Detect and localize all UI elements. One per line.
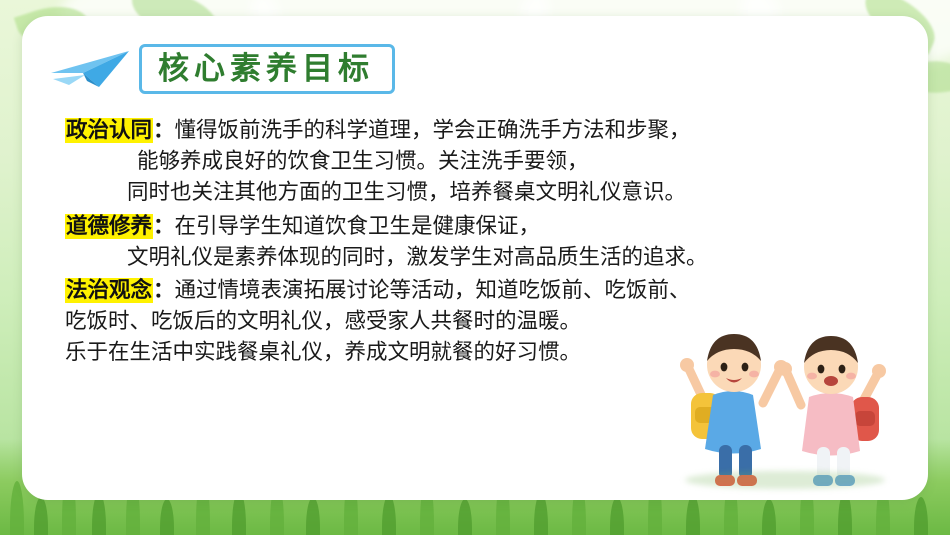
title-row: 核心素养目标 — [49, 43, 395, 95]
label-rule-of-law: 法治观念 — [65, 278, 153, 303]
law-line-1: 通过情境表演拓展讨论等活动，知道吃饭前、吃饭前、 — [175, 278, 691, 303]
colon-law: ： — [153, 278, 175, 303]
political-line-2: 能够养成良好的饮食卫生习惯。关注洗手要领， — [65, 146, 895, 177]
objective-paragraph-moral: 道德修养：在引导学生知道饮食卫生是健康保证， 文明礼仪是素养体现的同时，激发学生… — [65, 211, 895, 273]
content-card: 核心素养目标 政治认同：懂得饭前洗手的科学道理，学会正确洗手方法和步聚， 能够养… — [22, 16, 928, 500]
kids-svg — [671, 307, 901, 497]
title-box: 核心素养目标 — [139, 44, 395, 94]
political-line-1: 懂得饭前洗手的科学道理，学会正确洗手方法和步聚， — [175, 118, 691, 143]
label-moral-cultivation: 道德修养 — [65, 214, 153, 239]
label-political-identity: 政治认同 — [65, 118, 153, 143]
colon-moral: ： — [153, 214, 175, 239]
slide-root: 核心素养目标 政治认同：懂得饭前洗手的科学道理，学会正确洗手方法和步聚， 能够养… — [0, 0, 950, 535]
page-title: 核心素养目标 — [158, 54, 374, 85]
two-children-illustration — [671, 307, 901, 497]
colon-political: ： — [153, 118, 175, 143]
objective-paragraph-political: 政治认同：懂得饭前洗手的科学道理，学会正确洗手方法和步聚， 能够养成良好的饮食卫… — [65, 115, 895, 209]
political-line-3: 同时也关注其他方面的卫生习惯，培养餐桌文明礼仪意识。 — [65, 177, 895, 208]
moral-line-1: 在引导学生知道饮食卫生是健康保证， — [175, 214, 541, 239]
illustration-shadow — [685, 471, 885, 489]
paper-plane-icon — [49, 47, 133, 91]
moral-line-2: 文明礼仪是素养体现的同时，激发学生对高品质生活的追求。 — [65, 242, 895, 273]
